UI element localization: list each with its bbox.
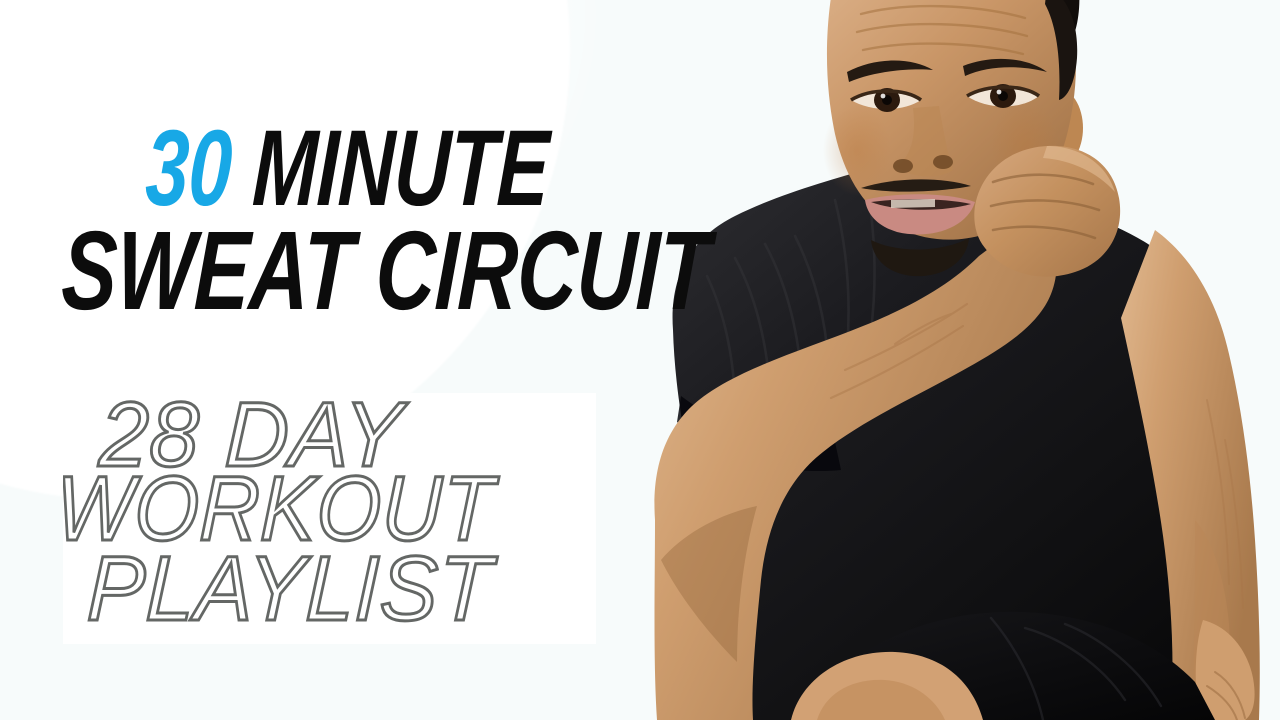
- athlete-photo: [595, 0, 1280, 720]
- subtitle-stack: 28 DAY WORKOUT PLAYLIST: [63, 393, 596, 644]
- headline-line-2: SWEAT CIRCUIT: [60, 219, 523, 322]
- subtitle-panel: 28 DAY WORKOUT PLAYLIST: [63, 393, 596, 644]
- subtitle-line-3: PLAYLIST: [86, 543, 494, 635]
- headline: 30 MINUTE SWEAT CIRCUIT: [60, 118, 680, 322]
- thumbnail-canvas: 30 MINUTE SWEAT CIRCUIT 28 DAY WORKOUT P…: [0, 0, 1280, 720]
- headline-line-1: 30 MINUTE: [144, 118, 534, 217]
